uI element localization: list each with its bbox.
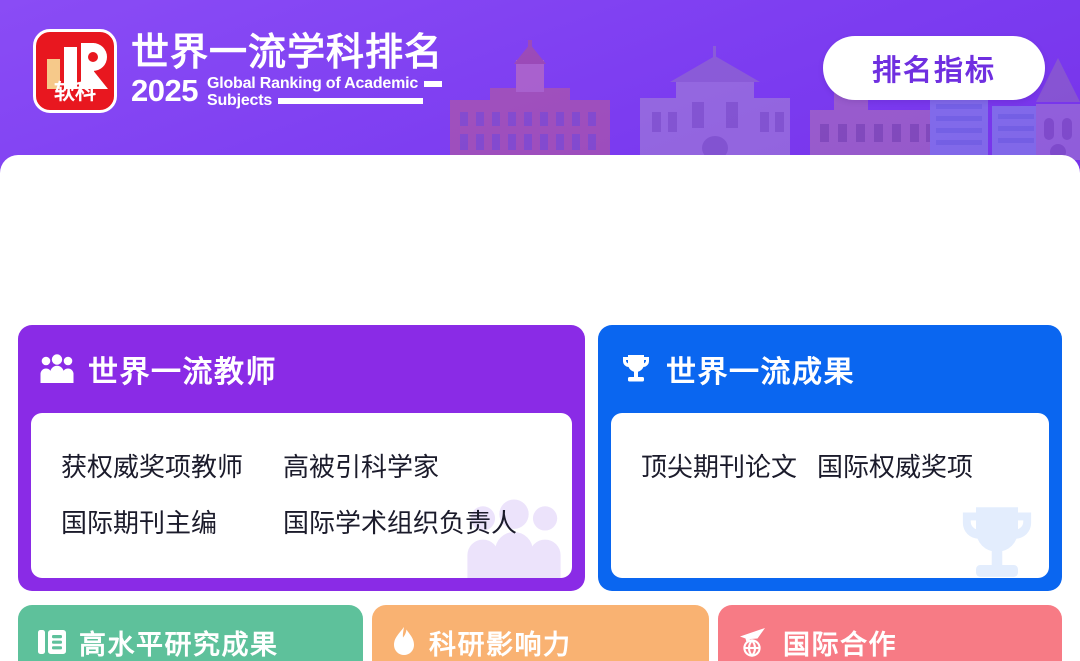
card-title: 科研影响力 (429, 623, 572, 661)
logo-chinese-mark: 软科 (36, 82, 114, 103)
brand-title-en-line1: Global Ranking of Academic (207, 75, 418, 92)
brand-title-cn: 世界一流学科排名 (131, 33, 443, 73)
indicator-item: 高被引科学家 (283, 453, 439, 483)
card-header: 世界一流成果 (598, 325, 1062, 413)
rule-short (424, 81, 442, 87)
content-panel: 世界一流教师 获权威奖项教师高被引科学家 (0, 155, 1080, 661)
indicator-item: 国际学术组织负责人 (283, 509, 517, 539)
card-research-impact[interactable]: 科研影响力 论文标准化影响力 (372, 605, 709, 661)
card-world-class-results[interactable]: 世界一流成果 顶尖期刊论文国际权威奖项 (598, 325, 1062, 591)
card-header: 世界一流教师 (18, 325, 585, 413)
flame-icon (392, 627, 416, 657)
card-high-level-research[interactable]: 高水平研究成果 重要期刊论文 (18, 605, 363, 661)
shanghairanking-logo[interactable]: 软科 (33, 29, 117, 113)
indicator-item: 国际期刊主编 (61, 511, 283, 537)
card-header: 高水平研究成果 (18, 605, 363, 661)
ranking-indicators-badge-label: 排名指标 (872, 47, 996, 89)
card-world-class-teachers[interactable]: 世界一流教师 获权威奖项教师高被引科学家 (18, 325, 585, 591)
brand-title-en-line2: Subjects (207, 92, 272, 109)
card-header: 科研影响力 (372, 605, 709, 661)
card-title: 世界一流教师 (88, 347, 277, 391)
indicator-item: 顶尖期刊论文 (641, 455, 797, 481)
ranking-indicators-badge[interactable]: 排名指标 (823, 36, 1045, 100)
airplane-globe-icon (738, 627, 770, 657)
card-title: 高水平研究成果 (79, 623, 279, 661)
card-title: 世界一流成果 (666, 347, 855, 391)
indicator-item: 国际权威奖项 (817, 453, 973, 483)
brand-lockup: 软科 世界一流学科排名 2025 Global Ranking of Acade… (33, 29, 443, 113)
people-group-icon (40, 354, 74, 384)
indicator-row: 国际期刊主编国际学术组织负责人 (61, 511, 517, 537)
card-body: 获权威奖项教师高被引科学家 国际期刊主编国际学术组织负责人 (31, 413, 572, 578)
indicator-item: 获权威奖项教师 (61, 455, 283, 481)
rule-long (278, 98, 423, 104)
brand-year: 2025 (131, 75, 198, 106)
trophy-icon (620, 354, 652, 384)
indicator-row: 顶尖期刊论文国际权威奖项 (641, 455, 973, 481)
card-header: 国际合作 (718, 605, 1062, 661)
document-list-icon (38, 628, 66, 656)
card-title: 国际合作 (783, 623, 897, 661)
card-international-collaboration[interactable]: 国际合作 国际合作论文比例 (718, 605, 1062, 661)
card-body: 顶尖期刊论文国际权威奖项 (611, 413, 1049, 578)
ranking-indicators-infographic: 软科 世界一流学科排名 2025 Global Ranking of Acade… (0, 0, 1080, 661)
page-header: 软科 世界一流学科排名 2025 Global Ranking of Acade… (0, 0, 1080, 160)
trophy-watermark-icon (955, 504, 1039, 578)
indicator-row: 获权威奖项教师高被引科学家 (61, 455, 517, 481)
